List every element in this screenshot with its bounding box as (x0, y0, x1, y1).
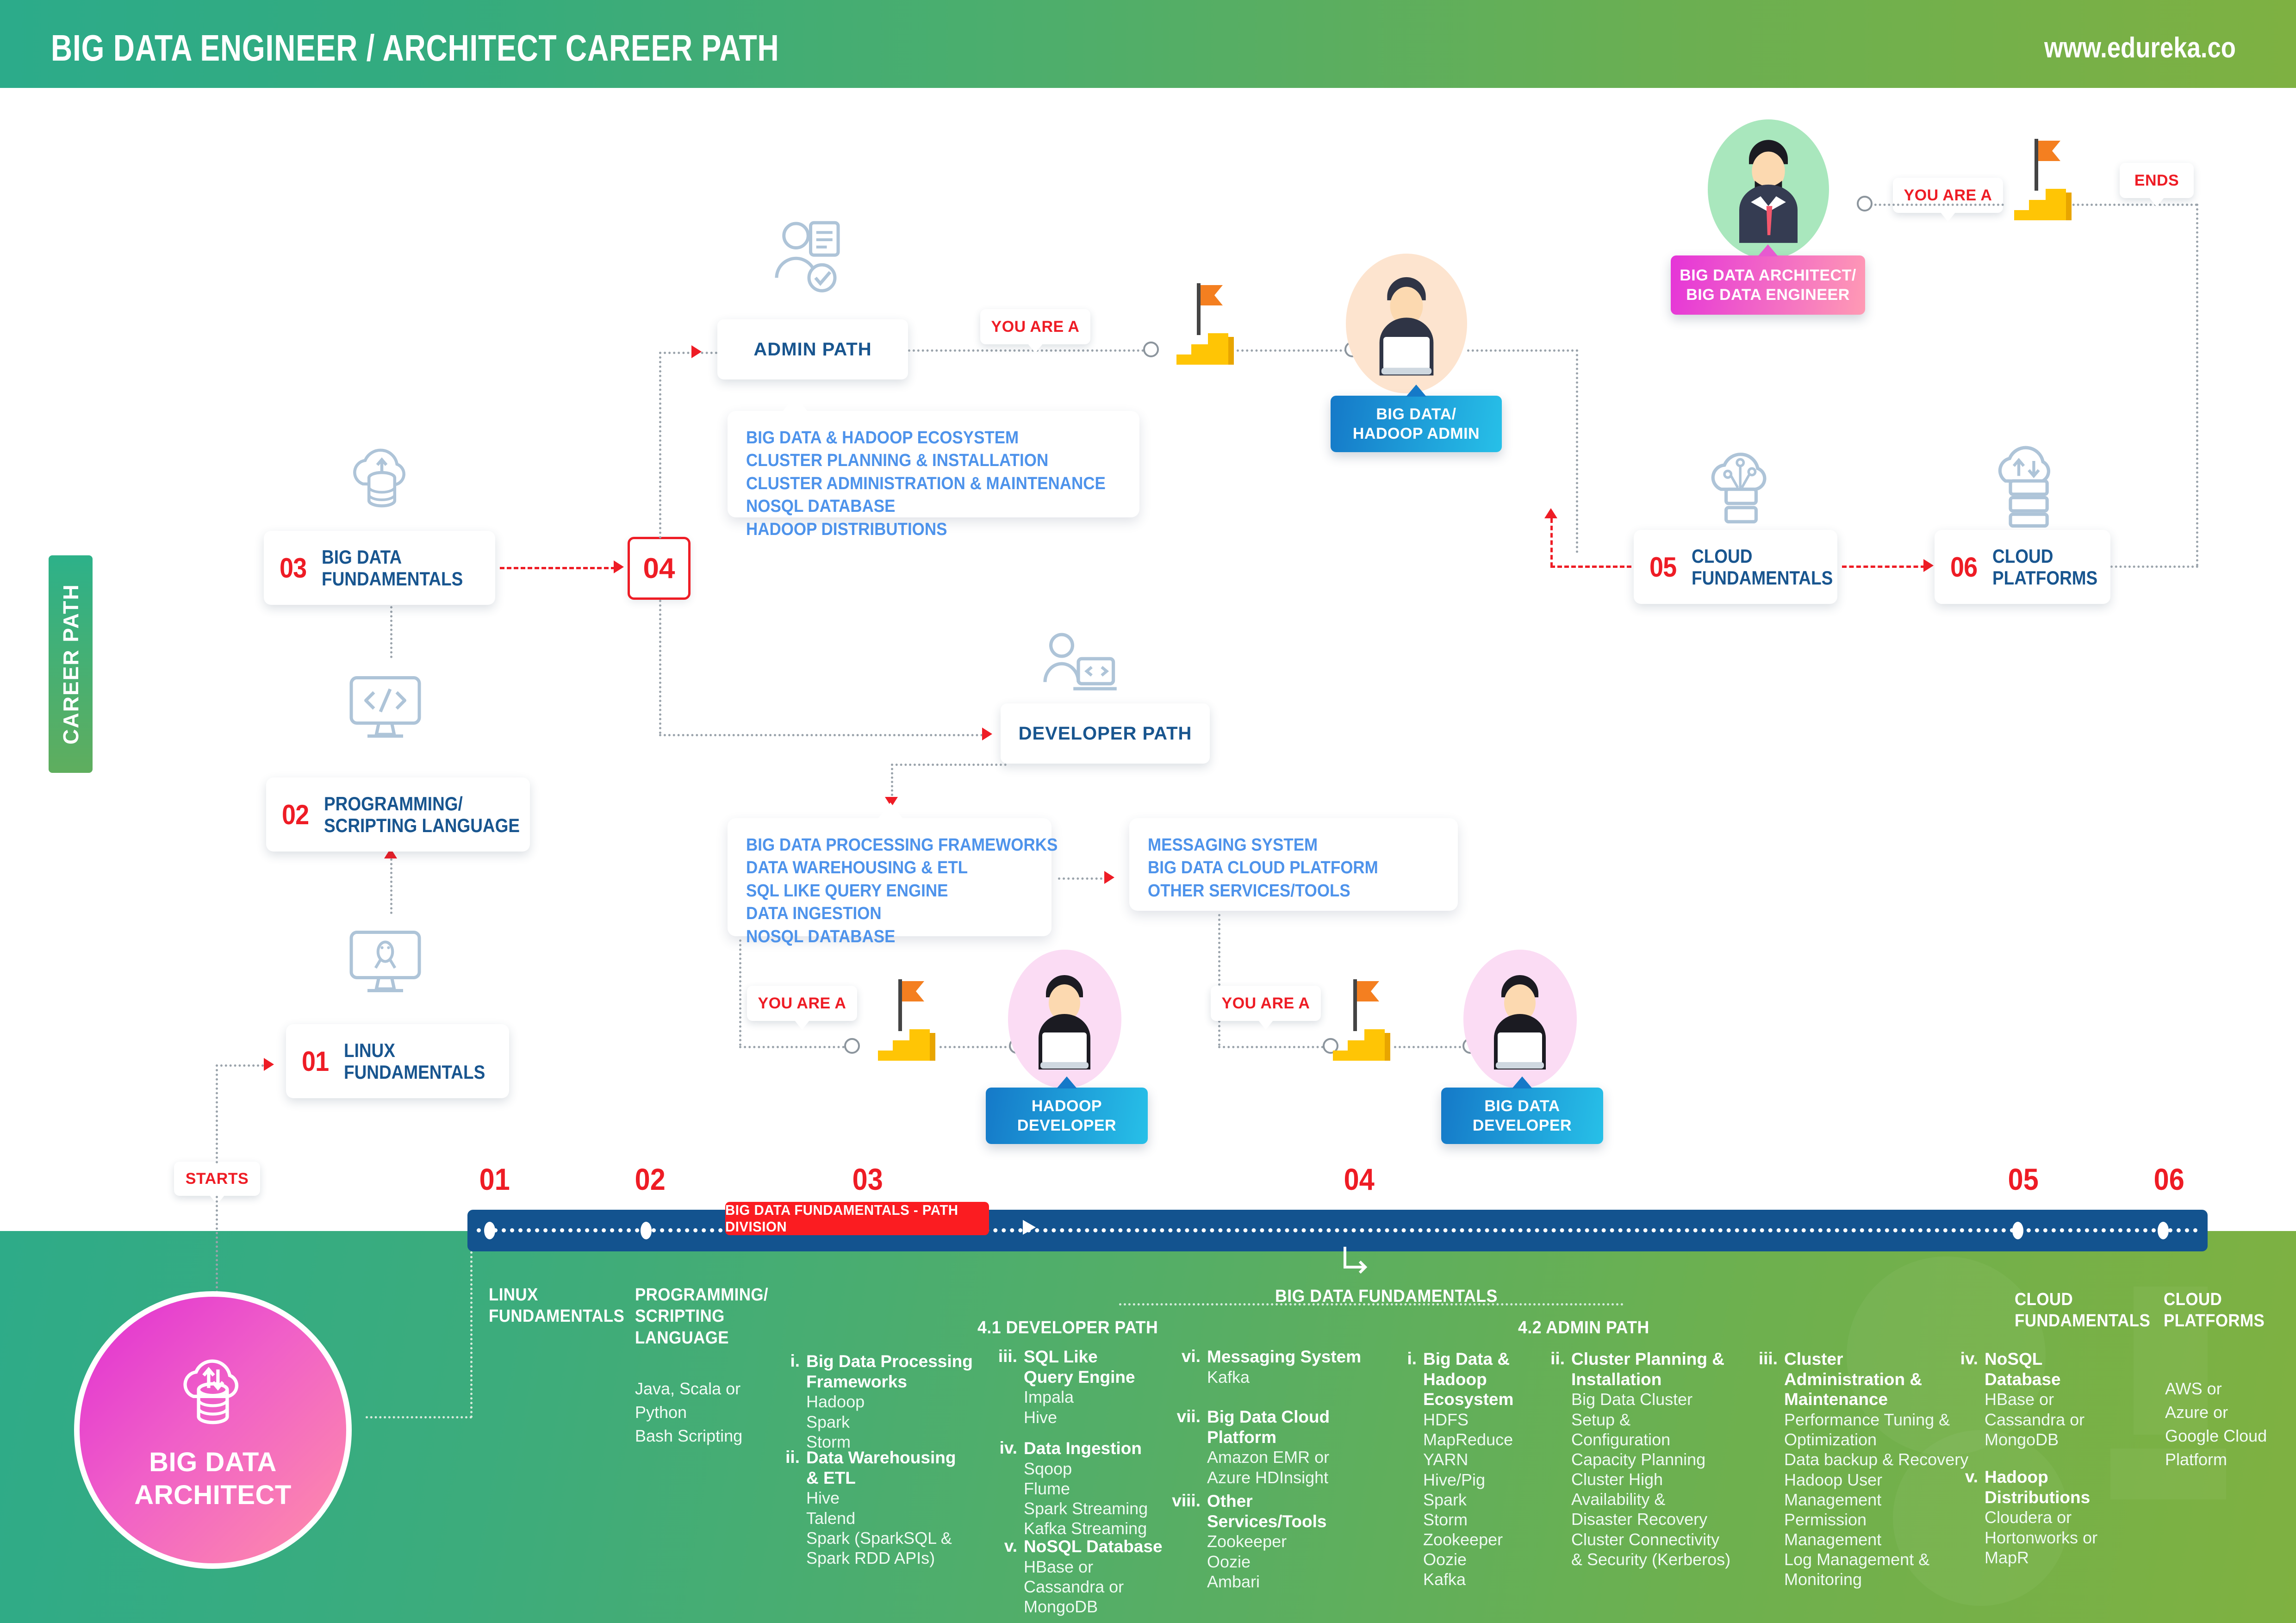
list-item-bullets: Zookeeper Oozie Ambari (1207, 1531, 1364, 1592)
timeline-marker-02[interactable] (641, 1222, 652, 1239)
role-badge-label: BIG DATA/HADOOP ADMIN (1353, 404, 1480, 444)
list-item-numeral: iii. (1759, 1349, 1778, 1368)
role-badge-label: BIG DATADEVELOPER (1473, 1096, 1572, 1136)
skill-box-notch (783, 395, 807, 411)
timeline-number-03: 03 (852, 1162, 883, 1197)
column-heading-linux: LINUX FUNDAMENTALS (489, 1284, 629, 1327)
list-item-numeral: ii. (1550, 1349, 1565, 1368)
list-item-title: Cluster Administration & Maintenance (1784, 1349, 1979, 1410)
timeline-marker-05[interactable] (2012, 1222, 2023, 1239)
avatar-figure (1720, 131, 1817, 249)
branch-to-developer-pill (659, 734, 988, 736)
column-heading-cloud-platforms: CLOUD PLATFORMS (2164, 1289, 2291, 1332)
code-monitor-icon (345, 666, 426, 747)
step-06-label: CLOUDPLATFORMS (1992, 545, 2097, 589)
connector-dev-down-stub (891, 764, 893, 796)
cloud-database-icon (167, 1349, 259, 1434)
arrow-dev-box-right (1104, 871, 1114, 884)
developer-path-pill[interactable]: DEVELOPER PATH (1001, 703, 1210, 764)
list-item: iv. Data Ingestion Sqoop Flume Spark Str… (1024, 1438, 1176, 1538)
callout-you-are-a-architect: YOU ARE A (1893, 178, 2003, 213)
connector-dev-right-down (1218, 914, 1220, 1046)
cloud-network-icon (1699, 444, 1783, 528)
timeline-number-01: 01 (479, 1162, 510, 1197)
callout-you-are-a-admin: YOU ARE A (980, 309, 1090, 344)
dev-skill-line: DATA INGESTION (746, 902, 1010, 925)
callout-ends: ENDS (2120, 163, 2194, 198)
avatar-hadoop-admin (1346, 254, 1467, 393)
list-item-bullets: Cloudera or Hortonworks or MapR (1985, 1507, 2137, 1567)
connector-06-up (2196, 204, 2198, 566)
step-card-02[interactable]: 02 PROGRAMMING/SCRIPTING LANGUAGE (266, 777, 530, 852)
branch-to-admin-pill (659, 352, 717, 354)
list-item-numeral: i. (790, 1351, 800, 1371)
connector-admin-right (1467, 349, 1578, 352)
list-item-bullets: HBase or Cassandra or MongoDB (1985, 1389, 2137, 1449)
role-badge-architect[interactable]: BIG DATA ARCHITECT/BIG DATA ENGINEER (1671, 255, 1865, 315)
connector-to-05 (1550, 566, 1638, 568)
list-item: iv. NoSQL Database HBase or Cassandra or… (1985, 1349, 2137, 1449)
connector-03-04 (500, 567, 616, 569)
admin-skill-box: BIG DATA & HADOOP ECOSYSTEM CLUSTER PLAN… (728, 411, 1139, 517)
timeline-number-05: 05 (2008, 1162, 2039, 1197)
dev-skill-line: DATA WAREHOUSING & ETL (746, 857, 1010, 879)
arrow-to-admin-pill (691, 345, 702, 358)
arrow-to-stage-04 (614, 560, 624, 573)
step-02-number: 02 (282, 799, 309, 831)
step-card-03[interactable]: 03 BIG DATAFUNDAMENTALS (264, 531, 495, 605)
flag-stairs-milestone-bigdata-dev (1309, 977, 1401, 1065)
column-heading-programming: PROGRAMMING/ SCRIPTING LANGUAGE (635, 1284, 776, 1349)
admin-skill-line: NOSQL DATABASE (746, 495, 1091, 518)
connector-to-ends (2068, 204, 2197, 206)
dev-skill-line: BIG DATA PROCESSING FRAMEWORKS (746, 834, 1010, 857)
flag-stairs-milestone-architect (1990, 137, 2083, 225)
admin-checklist-icon (764, 213, 845, 305)
avatar-figure (1358, 267, 1455, 383)
arrow-up-cloud (1544, 508, 1557, 518)
connector-hadoop-dev (739, 1046, 849, 1048)
section-heading-developer-path: 4.1 DEVELOPER PATH (977, 1318, 1158, 1338)
list-item-title: Big Data Processing Frameworks (806, 1351, 977, 1392)
timeline-arrow-icon (1023, 1220, 1036, 1235)
list-item-bullets: HDFS MapReduce YARN Hive/Pig Spark Storm… (1423, 1410, 1571, 1590)
dev-skill-line: NOSQL DATABASE (746, 926, 1010, 948)
arrow-to-developer-pill (982, 728, 992, 740)
list-item-title: NoSQL Database (1985, 1349, 2137, 1389)
avatar-big-data-developer (1463, 950, 1577, 1088)
role-badge-hadoop-admin[interactable]: BIG DATA/HADOOP ADMIN (1331, 396, 1502, 452)
dev-skill-line: BIG DATA CLOUD PLATFORM (1148, 857, 1416, 879)
callout-label: YOU ARE A (1904, 187, 1992, 205)
connector-02-03 (390, 602, 392, 658)
callout-label: YOU ARE A (991, 318, 1080, 336)
list-item-numeral: iv. (1960, 1349, 1978, 1368)
brand-logo-circle: BIG DATAARCHITECT (74, 1291, 352, 1569)
connector-to-cloud-05 (1550, 518, 1553, 567)
timeline-branch-arrow-icon (1342, 1245, 1370, 1277)
connector-logo-timeline (366, 1416, 472, 1418)
step-02-label: PROGRAMMING/SCRIPTING LANGUAGE (324, 793, 520, 836)
step-card-05[interactable]: 05 CLOUDFUNDAMENTALS (1634, 530, 1837, 604)
list-item-title: SQL Like Query Engine (1024, 1347, 1176, 1387)
connector-to-hadoop-dev-avatar (940, 1046, 1016, 1048)
callout-starts: STARTS (174, 1162, 260, 1196)
developer-path-label: DEVELOPER PATH (1019, 723, 1192, 744)
timeline-marker-01[interactable] (484, 1222, 495, 1239)
connector-flag-to-admin-avatar (1237, 349, 1351, 352)
timeline-number-04: 04 (1344, 1162, 1375, 1197)
avatar-big-data-architect (1708, 119, 1829, 259)
step-01-label: LINUXFUNDAMENTALS (344, 1039, 485, 1083)
stage-04-box[interactable]: 04 (628, 537, 691, 600)
brand-url: www.edureka.co (2044, 31, 2236, 64)
callout-you-are-a-hadoop-dev: YOU ARE A (747, 986, 857, 1021)
connector-starts-right (216, 1064, 264, 1067)
branch-vertical-admin (659, 352, 661, 539)
list-item-bullets: Impala Hive (1024, 1387, 1176, 1427)
stage-04-number: 04 (643, 552, 675, 585)
timeline-number-02: 02 (635, 1162, 666, 1197)
list-item-numeral: i. (1407, 1349, 1417, 1368)
list-item: vi. Messaging System Kafka (1207, 1347, 1364, 1387)
callout-label: YOU ARE A (1222, 995, 1310, 1013)
admin-skill-line: CLUSTER PLANNING & INSTALLATION (746, 449, 1091, 472)
list-item-title: Hadoop Distributions (1985, 1467, 2137, 1507)
flag-stairs-milestone-hadoop-dev (854, 977, 946, 1065)
admin-path-label: ADMIN PATH (753, 339, 871, 360)
step-06-number: 06 (1950, 551, 1977, 583)
connector-architect-flag (1870, 204, 2004, 206)
list-item-bullets: Amazon EMR or Azure HDInsight (1207, 1447, 1364, 1487)
list-item-numeral: ii. (785, 1448, 800, 1467)
page-title: BIG DATA ENGINEER / ARCHITECT CAREER PAT… (51, 27, 779, 69)
step-03-number: 03 (280, 552, 306, 584)
section-heading-admin-path: 4.2 ADMIN PATH (1518, 1318, 1649, 1338)
step-05-label: CLOUDFUNDAMENTALS (1692, 545, 1833, 589)
connector-dev-left-down (739, 939, 741, 1046)
admin-skill-line: HADOOP DISTRIBUTIONS (746, 518, 1091, 541)
list-item: ii. Cluster Planning & Installation Big … (1571, 1349, 1752, 1569)
developer-skill-box-left: BIG DATA PROCESSING FRAMEWORKS DATA WARE… (728, 818, 1052, 936)
callout-starts-label: STARTS (186, 1170, 249, 1188)
list-item: viii. Other Services/Tools Zookeeper Ooz… (1207, 1491, 1364, 1592)
list-item: ii. Data Warehousing & ETL Hive Talend S… (806, 1448, 977, 1568)
list-item-bullets: Hadoop Spark Storm (806, 1392, 977, 1452)
list-item-bullets: Hive Talend Spark (SparkSQL & Spark RDD … (806, 1488, 977, 1568)
list-item-bullets: HBase or Cassandra or MongoDB (1024, 1557, 1176, 1617)
step-03-label: BIG DATAFUNDAMENTALS (322, 546, 463, 590)
timeline-division-label: BIG DATA FUNDAMENTALS - PATH DIVISION (725, 1202, 989, 1235)
dev-skill-line: SQL LIKE QUERY ENGINE (746, 880, 1010, 902)
list-item-title: NoSQL Database (1024, 1536, 1176, 1557)
connector-admin-down (1576, 349, 1578, 553)
list-item-numeral: viii. (1172, 1491, 1201, 1511)
connector-to-bigdata-dev-avatar (1394, 1046, 1470, 1048)
linux-monitor-icon (345, 921, 426, 1002)
list-item-numeral: iv. (1000, 1438, 1017, 1458)
list-item: v. NoSQL Database HBase or Cassandra or … (1024, 1536, 1176, 1617)
skill-box-notch (878, 802, 902, 818)
arrow-to-step-01 (264, 1058, 274, 1071)
connector-starts-up (216, 1064, 218, 1163)
timeline-marker-06[interactable] (2158, 1222, 2169, 1239)
developer-skill-box-right: MESSAGING SYSTEM BIG DATA CLOUD PLATFORM… (1129, 818, 1458, 911)
connector-06-right (2110, 566, 2198, 568)
admin-path-pill[interactable]: ADMIN PATH (717, 319, 908, 379)
list-item-title: Big Data & Hadoop Ecosystem (1423, 1349, 1571, 1410)
avatar-hadoop-developer (1008, 950, 1121, 1088)
list-item-title: Messaging System (1207, 1347, 1364, 1367)
role-badge-big-data-developer[interactable]: BIG DATADEVELOPER (1441, 1088, 1603, 1144)
connector-starts-down (216, 1196, 218, 1293)
dev-skill-line: MESSAGING SYSTEM (1148, 834, 1416, 857)
list-item-bullets: Kafka (1207, 1367, 1364, 1387)
column-sub-cloud-platforms: AWS or Azure or Google Cloud Platform (2165, 1377, 2296, 1471)
page-header: BIG DATA ENGINEER / ARCHITECT CAREER PAT… (0, 0, 2296, 88)
step-05-number: 05 (1649, 551, 1676, 583)
list-item-title: Big Data Cloud Platform (1207, 1407, 1364, 1447)
column-sub-programming: Java, Scala or Python Bash Scripting (635, 1377, 788, 1448)
callout-label: YOU ARE A (758, 995, 846, 1013)
admin-skill-line: CLUSTER ADMINISTRATION & MAINTENANCE (746, 473, 1091, 495)
role-badge-hadoop-developer[interactable]: HADOOPDEVELOPER (986, 1088, 1148, 1144)
list-item-numeral: vii. (1177, 1407, 1201, 1426)
connector-01-02 (390, 858, 392, 914)
node-ring (1857, 196, 1873, 211)
list-item-title: Cluster Planning & Installation (1571, 1349, 1752, 1389)
list-item-numeral: iii. (998, 1347, 1017, 1366)
developer-laptop-icon (1037, 627, 1120, 710)
list-item-title: Data Ingestion (1024, 1438, 1176, 1459)
role-badge-label: BIG DATA ARCHITECT/BIG DATA ENGINEER (1680, 266, 1856, 305)
connector-dev-boxes (1058, 877, 1107, 880)
callout-you-are-a-bigdata-dev: YOU ARE A (1211, 986, 1321, 1021)
list-item: i. Big Data Processing Frameworks Hadoop… (806, 1351, 977, 1452)
list-item-bullets: Big Data Cluster Setup & Configuration C… (1571, 1389, 1752, 1569)
flag-stairs-milestone-admin (1152, 281, 1245, 369)
list-item-numeral: vi. (1182, 1347, 1201, 1366)
list-item-bullets: Performance Tuning & Optimization Data b… (1784, 1410, 1979, 1590)
connector-dev-left (891, 764, 1007, 766)
list-item-title: Other Services/Tools (1207, 1491, 1364, 1531)
branch-vertical-developer (659, 600, 661, 734)
step-card-06[interactable]: 06 CLOUDPLATFORMS (1935, 530, 2110, 604)
list-item-title: Data Warehousing & ETL (806, 1448, 977, 1488)
list-item: vii. Big Data Cloud Platform Amazon EMR … (1207, 1407, 1364, 1487)
career-path-label: CAREER PATH (58, 584, 83, 744)
list-item-numeral: v. (1004, 1536, 1017, 1556)
arrow-to-step-06 (1923, 559, 1934, 572)
connector-05-06 (1842, 566, 1925, 568)
admin-skill-line: BIG DATA & HADOOP ECOSYSTEM (746, 427, 1091, 449)
column-heading-cloud-fundamentals: CLOUD FUNDAMENTALS (2015, 1289, 2155, 1332)
dev-skill-line: OTHER SERVICES/TOOLS (1148, 880, 1416, 902)
list-item-numeral: v. (1965, 1467, 1978, 1486)
avatar-figure (1018, 964, 1111, 1079)
brand-logo-label: BIG DATAARCHITECT (134, 1446, 292, 1512)
section-rule (1119, 1303, 1624, 1306)
list-item: iii. SQL Like Query Engine Impala Hive (1024, 1347, 1176, 1427)
list-item: v. Hadoop Distributions Cloudera or Hort… (1985, 1467, 2137, 1567)
career-path-tab: CAREER PATH (49, 555, 93, 773)
role-badge-label: HADOOPDEVELOPER (1017, 1096, 1116, 1136)
step-card-01[interactable]: 01 LINUXFUNDAMENTALS (286, 1024, 509, 1098)
list-item-bullets: Sqoop Flume Spark Streaming Kafka Stream… (1024, 1459, 1176, 1539)
timeline-division-badge: BIG DATA FUNDAMENTALS - PATH DIVISION (725, 1202, 989, 1235)
callout-ends-label: ENDS (2134, 172, 2179, 190)
avatar-figure (1474, 964, 1566, 1079)
infographic-canvas: BIG DATA ENGINEER / ARCHITECT CAREER PAT… (0, 0, 2296, 1623)
connector-logo-up (470, 1251, 473, 1418)
step-01-number: 01 (302, 1045, 329, 1077)
cloud-server-icon (1985, 444, 2069, 528)
timeline-number-06: 06 (2154, 1162, 2184, 1197)
list-item: iii. Cluster Administration & Maintenanc… (1784, 1349, 1979, 1590)
cloud-database-icon (340, 440, 423, 516)
list-item: i. Big Data & Hadoop Ecosystem HDFS MapR… (1423, 1349, 1571, 1590)
